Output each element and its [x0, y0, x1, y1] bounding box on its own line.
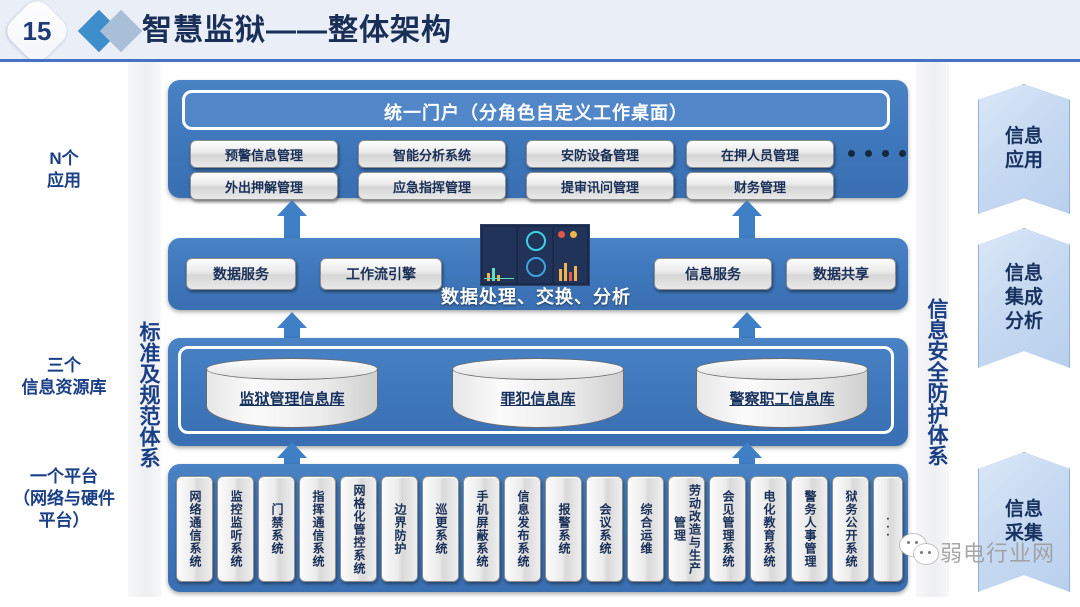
infra-chip-6[interactable]: 巡更系统: [422, 476, 459, 582]
infra-chip-label-8: 信息发布系统: [515, 490, 530, 568]
app-button-3[interactable]: 在押人员管理: [686, 140, 834, 168]
data-processing-caption: 数据处理、交换、分析: [430, 283, 642, 309]
stage-label-databases-line1: 三个: [0, 355, 128, 377]
chevron-2-line1: 信息: [1005, 498, 1043, 522]
watermark-text: 弱电行业网: [940, 536, 1055, 568]
infra-chip-label-9: 报警系统: [556, 503, 571, 555]
infra-chip-15[interactable]: 警务人事管理: [791, 476, 828, 582]
flow-arrow-service-to-app-left: [277, 200, 307, 238]
infra-chip-label-5: 边界防护: [392, 503, 407, 555]
infra-chip-12[interactable]: 劳动改造与生产管理: [668, 476, 705, 582]
page-title: 智慧监狱——整体架构: [142, 10, 452, 52]
service-button-0[interactable]: 数据服务: [186, 258, 296, 290]
infra-chip-0[interactable]: 网络通信系统: [176, 476, 213, 582]
app-button-5[interactable]: 应急指挥管理: [358, 172, 506, 200]
infra-chip-label-15: 警务人事管理: [802, 490, 817, 568]
database-cylinder-0[interactable]: 监狱管理信息库: [206, 358, 378, 428]
stage-label-applications-line1: N个: [0, 148, 128, 170]
infra-chip-11[interactable]: 综合运维: [627, 476, 664, 582]
database-label-0: 监狱管理信息库: [206, 388, 378, 409]
stage-label-platform-line3: 平台）: [0, 510, 128, 532]
service-button-1[interactable]: 工作流引擎: [320, 258, 442, 290]
infra-chip-5[interactable]: 边界防护: [381, 476, 418, 582]
infra-chip-16[interactable]: 狱务公开系统: [832, 476, 869, 582]
infra-more-dots-label: ···: [881, 517, 895, 541]
application-layer-panel: 统一门户（分角色自定义工作桌面） 预警信息管理 智能分析系统 安防设备管理 在押…: [168, 80, 908, 198]
standards-band-label: 标准及规范体系: [128, 288, 161, 500]
stage-label-applications-line2: 应用: [0, 170, 128, 192]
slide-header: 15 智慧监狱——整体架构: [0, 0, 1080, 62]
standards-band: 标准及规范体系: [128, 62, 161, 597]
infra-chip-label-10: 会议系统: [597, 503, 612, 555]
chevron-information-integration: 信息 集成 分析: [978, 228, 1070, 368]
infra-chip-2[interactable]: 门禁系统: [258, 476, 295, 582]
chevron-1-line1: 信息: [1005, 262, 1043, 286]
database-label-1: 罪犯信息库: [452, 388, 624, 409]
infra-chip-7[interactable]: 手机屏蔽系统: [463, 476, 500, 582]
infra-chip-label-3: 指挥通信系统: [310, 490, 325, 568]
app-button-1[interactable]: 智能分析系统: [358, 140, 506, 168]
chevron-information-collection: 信息 采集: [978, 452, 1070, 592]
chevron-1-line3: 分析: [1005, 310, 1043, 334]
infra-chip-10[interactable]: 会议系统: [586, 476, 623, 582]
flow-arrow-service-to-app-right: [732, 200, 762, 238]
infra-chip-14[interactable]: 电化教育系统: [750, 476, 787, 582]
security-band: 信息安全防护体系: [916, 62, 949, 597]
infra-chip-label-6: 巡更系统: [433, 503, 448, 555]
database-layer-panel: 监狱管理信息库 罪犯信息库 警察职工信息库: [168, 338, 908, 446]
bi-dashboard-thumbnail-icon: [480, 224, 590, 286]
database-cylinder-1[interactable]: 罪犯信息库: [452, 358, 624, 428]
service-button-3[interactable]: 数据共享: [786, 258, 896, 290]
stage-label-databases: 三个 信息资源库: [0, 355, 128, 399]
infra-chip-label-7: 手机屏蔽系统: [474, 490, 489, 568]
infra-chip-label-2: 门禁系统: [269, 503, 284, 555]
infra-chip-8[interactable]: 信息发布系统: [504, 476, 541, 582]
infra-chip-label-11: 综合运维: [638, 503, 653, 555]
unified-portal-banner: 统一门户（分角色自定义工作桌面）: [182, 90, 890, 130]
infra-chip-13[interactable]: 会见管理系统: [709, 476, 746, 582]
app-button-4[interactable]: 外出押解管理: [190, 172, 338, 200]
chevron-1-line2: 集成: [1005, 286, 1043, 310]
infra-chip-label-0: 网络通信系统: [187, 490, 202, 568]
app-button-2[interactable]: 安防设备管理: [526, 140, 674, 168]
database-label-2: 警察职工信息库: [696, 388, 868, 409]
infra-chip-4[interactable]: 网格化管控系统: [340, 476, 377, 582]
app-button-0[interactable]: 预警信息管理: [190, 140, 338, 168]
chevron-information-application: 信息 应用: [978, 84, 1070, 214]
infra-chip-3[interactable]: 指挥通信系统: [299, 476, 336, 582]
infra-chip-more: ···: [873, 476, 903, 582]
slide-number: 15: [12, 6, 62, 56]
stage-label-platform-line2: （网络与硬件: [0, 488, 128, 510]
stage-label-platform: 一个平台 （网络与硬件 平台）: [0, 466, 128, 532]
infra-chip-label-13: 会见管理系统: [720, 490, 735, 568]
infra-chip-1[interactable]: 监控监听系统: [217, 476, 254, 582]
infra-chip-9[interactable]: 报警系统: [545, 476, 582, 582]
database-cylinder-2[interactable]: 警察职工信息库: [696, 358, 868, 428]
chevron-0-line1: 信息: [1005, 125, 1043, 149]
app-button-7[interactable]: 财务管理: [686, 172, 834, 200]
security-band-label: 信息安全防护体系: [916, 262, 949, 502]
stage-label-applications: N个 应用: [0, 148, 128, 192]
infra-chip-label-16: 狱务公开系统: [843, 490, 858, 568]
slide-number-badge: 15: [2, 0, 73, 66]
infra-chip-label-14: 电化教育系统: [761, 490, 776, 568]
wechat-icon: [900, 534, 942, 568]
service-button-2[interactable]: 信息服务: [654, 258, 772, 290]
more-apps-dots-icon: [848, 150, 906, 157]
app-button-6[interactable]: 提审讯问管理: [526, 172, 674, 200]
infra-chip-label-1: 监控监听系统: [228, 490, 243, 568]
chevron-0-line2: 应用: [1005, 149, 1043, 173]
infra-chip-label-4: 网格化管控系统: [351, 484, 366, 575]
stage-label-platform-line1: 一个平台: [0, 466, 128, 488]
infra-chip-label-12: 劳动改造与生产管理: [672, 479, 702, 579]
stage-label-databases-line2: 信息资源库: [0, 377, 128, 399]
